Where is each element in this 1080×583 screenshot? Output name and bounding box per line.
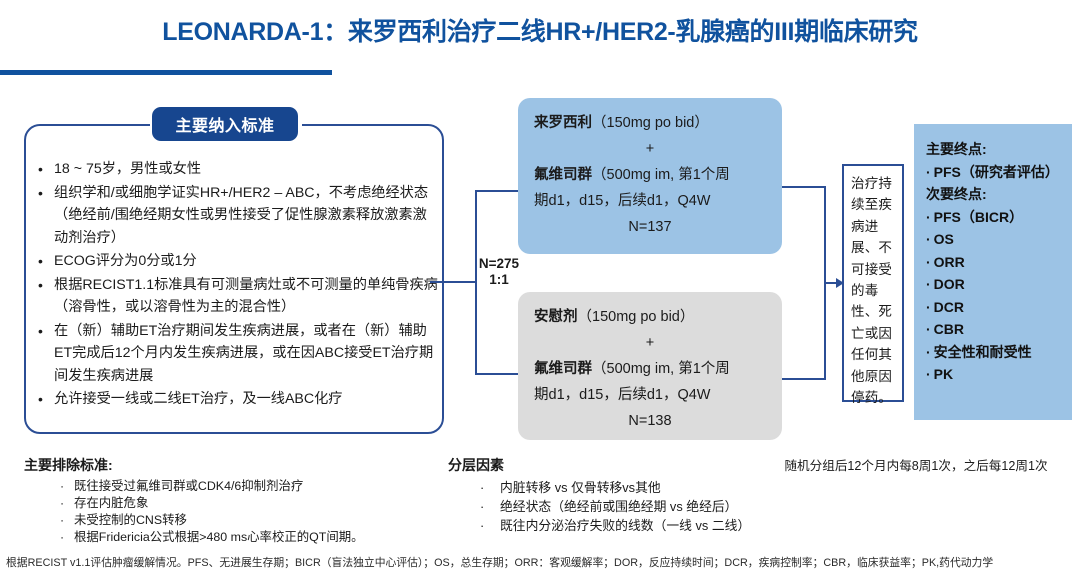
list-item: • 组织学和/或细胞学证实HR+/HER2 – ABC，不考虑绝经状态（绝经前/… [38,182,440,250]
arm-drug1-name: 来罗西利 [534,115,592,131]
arm-plus-sign: + [534,330,766,356]
list-item: ·DOR [926,273,1064,296]
stratification-item-text: 绝经状态（绝经前或围绝经期 vs 绝经后） [500,497,737,516]
list-item: ·存在内脏危象 [24,495,444,512]
arm-drug1-dose: （150mg po bid） [592,115,709,131]
arm-drug2-dose: （500mg im, 第1个周 [592,167,730,183]
inclusion-item-text: 在（新）辅助ET治疗期间发生疾病进展，或者在（新）辅助ET完成后12个月内发生疾… [54,320,440,388]
treatment-arm-experimental: 来罗西利（150mg po bid） + 氟维司群（500mg im, 第1个周… [518,98,782,254]
inclusion-item-text: 18 ~ 75岁，男性或女性 [54,158,440,181]
endpoints-box: 主要终点: ·PFS（研究者评估） 次要终点: ·PFS（BICR） ·OS ·… [914,124,1072,420]
bullet-dot-icon: • [38,274,54,319]
bullet-dot-icon: · [60,478,74,495]
list-item: ·ORR [926,251,1064,274]
bullet-dot-icon: • [38,182,54,250]
arm-drug2-name: 氟维司群 [534,361,592,377]
page-title: LEONARDA-1：来罗西利治疗二线HR+/HER2-乳腺癌的III期临床研究 [0,12,1080,48]
list-item: ·PK [926,363,1064,386]
bullet-dot-icon: · [60,512,74,529]
bullet-dot-icon: • [38,158,54,181]
bullet-dot-icon: · [60,495,74,512]
endpoint-text: PFS（BICR） [934,209,1023,225]
endpoint-text: 安全性和耐受性 [934,344,1032,360]
bullet-dot-icon: · [480,516,500,535]
stratification-item-text: 内脏转移 vs 仅骨转移vs其他 [500,478,661,497]
bullet-dot-icon: · [926,366,931,382]
arm-drug2-name: 氟维司群 [534,167,592,183]
list-item: ·DCR [926,296,1064,319]
list-item: ·OS [926,228,1064,251]
inclusion-item-text: 允许接受一线或二线ET治疗，及一线ABC化疗 [54,388,440,411]
list-item: • 根据RECIST1.1标准具有可测量病灶或不可测量的单纯骨疾病（溶骨性，或以… [38,274,440,319]
inclusion-item-text: 组织学和/或细胞学证实HR+/HER2 – ABC，不考虑绝经状态（绝经前/围绝… [54,182,440,250]
arm-drug2-dose: （500mg im, 第1个周 [592,361,730,377]
arm-sample-size: N=138 [534,408,766,434]
list-item: • 18 ~ 75岁，男性或女性 [38,158,440,181]
exclusion-item-text: 根据Fridericia公式根据>480 ms心率校正的QT间期。 [74,529,364,546]
bullet-dot-icon: • [38,388,54,411]
endpoint-text: DOR [934,276,965,292]
list-item: ·既往接受过氟维司群或CDK4/6抑制剂治疗 [24,478,444,495]
arm-sample-size: N=137 [534,214,766,240]
arm-drug1-name: 安慰剂 [534,309,578,325]
bullet-dot-icon: · [926,209,931,225]
merge-bottom-line [782,378,826,380]
stratification-factors-title: 分层因素 [448,455,778,475]
list-item: • 允许接受一线或二线ET治疗，及一线ABC化疗 [38,388,440,411]
arm-line-drug1: 安慰剂（150mg po bid） [534,304,766,330]
list-item: ·CBR [926,318,1064,341]
exclusion-item-text: 既往接受过氟维司群或CDK4/6抑制剂治疗 [74,478,303,495]
primary-endpoint-heading: 主要终点: [926,138,1064,161]
list-item: ·绝经状态（绝经前或围绝经期 vs 绝经后） [448,497,778,516]
arm-line-schedule: 期d1，d15，后续d1，Q4W [534,382,766,408]
list-item: ·PFS（研究者评估） [926,161,1064,184]
bullet-dot-icon: • [38,320,54,388]
title-underline-rule [0,70,332,75]
exclusion-item-text: 未受控制的CNS转移 [74,512,187,529]
arm-line-schedule: 期d1，d15，后续d1，Q4W [534,188,766,214]
inclusion-criteria-badge: 主要纳入标准 [152,107,298,141]
inclusion-criteria-list: • 18 ~ 75岁，男性或女性 • 组织学和/或细胞学证实HR+/HER2 –… [38,158,440,412]
bullet-dot-icon: · [480,478,500,497]
merge-top-line [782,186,826,188]
randomization-label: N=275 1:1 [468,256,530,287]
list-item: ·既往内分泌治疗失败的线数（一线 vs 二线） [448,516,778,535]
list-item: ·未受控制的CNS转移 [24,512,444,529]
exclusion-item-text: 存在内脏危象 [74,495,148,512]
bullet-dot-icon: · [926,164,931,180]
inclusion-item-text: ECOG评分为0分或1分 [54,250,440,273]
inclusion-item-text: 根据RECIST1.1标准具有可测量病灶或不可测量的单纯骨疾病（溶骨性，或以溶骨… [54,274,440,319]
endpoint-text: ORR [934,254,965,270]
list-item: • ECOG评分为0分或1分 [38,250,440,273]
endpoint-text: CBR [934,321,964,337]
list-item: ·PFS（BICR） [926,206,1064,229]
bullet-dot-icon: · [926,231,931,247]
bullet-dot-icon: · [926,344,931,360]
stratification-item-text: 既往内分泌治疗失败的线数（一线 vs 二线） [500,516,750,535]
list-item: • 在（新）辅助ET治疗期间发生疾病进展，或者在（新）辅助ET完成后12个月内发… [38,320,440,388]
footnote-abbreviations: 根据RECIST v1.1评估肿瘤缓解情况。PFS、无进展生存期；BICR（盲法… [6,556,1078,570]
arms-merge-connector [782,186,844,380]
exclusion-criteria-title: 主要排除标准: [24,455,444,475]
endpoint-text: DCR [934,299,964,315]
bullet-dot-icon: · [60,529,74,546]
arm-line-drug1: 来罗西利（150mg po bid） [534,110,766,136]
exclusion-criteria-block: 主要排除标准: ·既往接受过氟维司群或CDK4/6抑制剂治疗 ·存在内脏危象 ·… [24,455,444,546]
bullet-dot-icon: · [480,497,500,516]
bullet-dot-icon: · [926,276,931,292]
bullet-dot-icon: · [926,254,931,270]
arm-line-drug2: 氟维司群（500mg im, 第1个周 [534,356,766,382]
randomization-total: N=275 [468,256,530,272]
list-item: ·根据Fridericia公式根据>480 ms心率校正的QT间期。 [24,529,444,546]
list-item: ·安全性和耐受性 [926,341,1064,364]
arm-line-drug2: 氟维司群（500mg im, 第1个周 [534,162,766,188]
bullet-dot-icon: · [926,299,931,315]
stratification-factors-block: 分层因素 ·内脏转移 vs 仅骨转移vs其他 ·绝经状态（绝经前或围绝经期 vs… [448,455,778,535]
arm-drug1-dose: （150mg po bid） [578,309,695,325]
treatment-continuation-box: 治疗持续至疾病进展、不可接受的毒性、死亡或因任何其他原因停药。 [842,164,904,402]
treatment-arm-control: 安慰剂（150mg po bid） + 氟维司群（500mg im, 第1个周 … [518,292,782,440]
endpoint-text: OS [934,231,954,247]
bullet-dot-icon: • [38,250,54,273]
list-item: ·内脏转移 vs 仅骨转移vs其他 [448,478,778,497]
endpoint-text: PK [934,366,953,382]
secondary-endpoint-heading: 次要终点: [926,183,1064,206]
arm-plus-sign: + [534,136,766,162]
bullet-dot-icon: · [926,321,931,337]
randomization-ratio: 1:1 [468,272,530,288]
endpoint-text: PFS（研究者评估） [934,164,1059,180]
assessment-schedule-note: 随机分组后12个月内每8周1次，之后每12周1次 [752,455,1080,474]
